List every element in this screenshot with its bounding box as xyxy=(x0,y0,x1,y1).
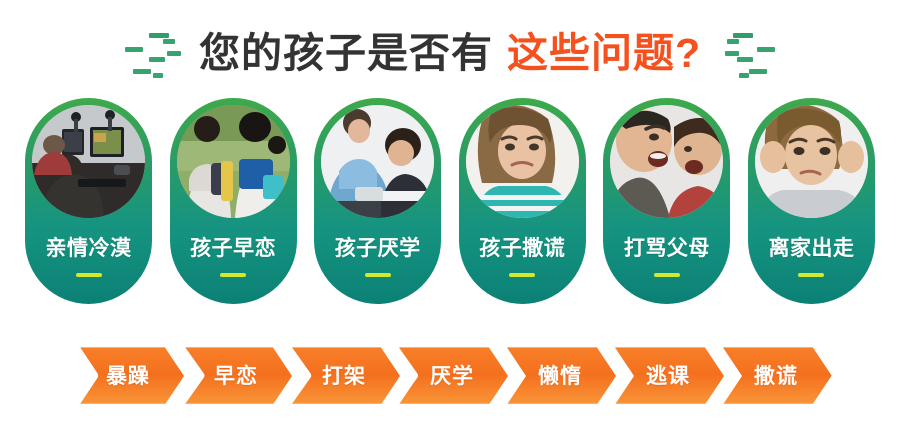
photo-parent-scolding-boy xyxy=(321,105,434,218)
card-underline-dash xyxy=(509,273,535,277)
problem-card[interactable]: 孩子撒谎 xyxy=(459,98,586,304)
problem-card[interactable]: 孩子早恋 xyxy=(170,98,297,304)
ribbon-chip[interactable]: 打架 xyxy=(288,343,400,409)
card-label: 打骂父母 xyxy=(624,238,710,259)
problem-card[interactable]: 打骂父母 xyxy=(603,98,730,304)
card-underline-dash xyxy=(76,273,102,277)
card-label: 孩子厌学 xyxy=(335,238,421,259)
card-photo xyxy=(610,105,723,218)
promo-banner: 您的孩子是否有 这些问题? xyxy=(0,0,900,437)
card-underline-dash xyxy=(365,273,391,277)
card-label: 亲情冷漠 xyxy=(46,238,132,259)
card-photo xyxy=(466,105,579,218)
problem-card-row: 亲情冷漠 xyxy=(25,98,875,304)
ribbon-chip[interactable]: 早恋 xyxy=(180,343,292,409)
page-title-main: 您的孩子是否有 xyxy=(199,33,493,74)
card-underline-dash xyxy=(220,273,246,277)
photo-father-and-child-shouting xyxy=(610,105,723,218)
card-underline-dash xyxy=(798,273,824,277)
ribbon-chip[interactable]: 撒谎 xyxy=(720,343,832,409)
page-title-accent: 这些问题? xyxy=(507,33,701,74)
card-label: 孩子早恋 xyxy=(190,238,276,259)
ribbon-chip[interactable]: 逃课 xyxy=(612,343,724,409)
pixel-dash-ornament-left-icon xyxy=(119,27,175,79)
photo-boy-covering-ears xyxy=(755,105,868,218)
problem-card[interactable]: 亲情冷漠 xyxy=(25,98,152,304)
keyword-ribbon-chips: 暴躁 早恋 打架 厌学 懒惰 逃课 撒谎 xyxy=(72,343,828,409)
photo-internet-cafe xyxy=(32,105,145,218)
card-photo xyxy=(755,105,868,218)
ribbon-chip[interactable]: 懒惰 xyxy=(504,343,616,409)
card-photo xyxy=(177,105,290,218)
card-photo xyxy=(32,105,145,218)
card-photo xyxy=(321,105,434,218)
page-title: 您的孩子是否有 这些问题? xyxy=(199,33,701,74)
card-underline-dash xyxy=(654,273,680,277)
pixel-dash-ornament-right-icon xyxy=(725,27,781,79)
photo-angry-girl xyxy=(466,105,579,218)
card-label: 孩子撒谎 xyxy=(479,238,565,259)
problem-card[interactable]: 孩子厌学 xyxy=(314,98,441,304)
keyword-ribbon: 暴躁 早恋 打架 厌学 懒惰 逃课 撒谎 xyxy=(72,343,828,409)
photo-teen-students xyxy=(177,105,290,218)
banner-title-row: 您的孩子是否有 这些问题? xyxy=(0,22,900,84)
ribbon-chip[interactable]: 暴躁 xyxy=(72,343,184,409)
problem-card[interactable]: 离家出走 xyxy=(748,98,875,304)
ribbon-chip[interactable]: 厌学 xyxy=(396,343,508,409)
card-label: 离家出走 xyxy=(768,238,854,259)
